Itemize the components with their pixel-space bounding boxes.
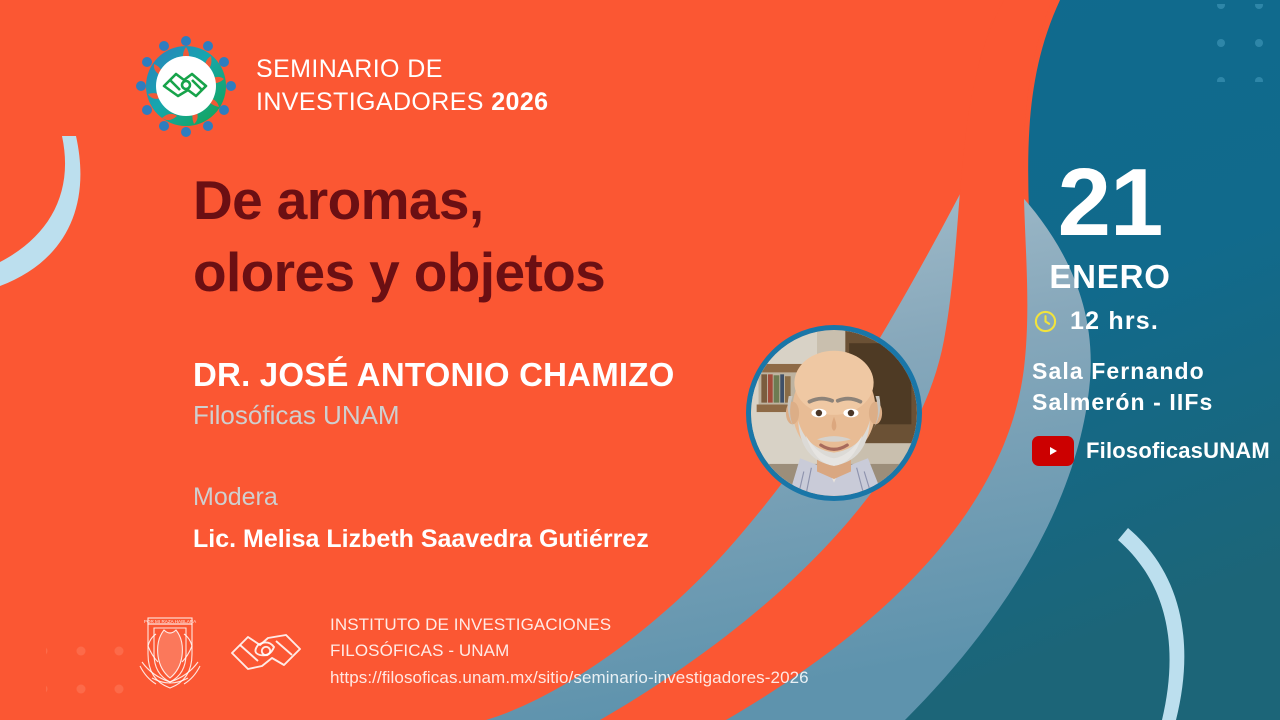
- brand-line-2-text: INVESTIGADORES: [256, 88, 484, 116]
- moderator-label: Modera: [193, 481, 649, 514]
- decor-dots-bottom-left: [46, 640, 124, 720]
- speaker-portrait-image: [751, 330, 917, 496]
- event-venue-line-1: Sala Fernando: [1032, 356, 1270, 386]
- decor-dots-top-right: [1206, 4, 1280, 82]
- speaker-block: DR. JOSÉ ANTONIO CHAMIZO Filosóficas UNA…: [193, 355, 675, 433]
- footer-block: POR MI RAZA HABLARA INSTITUTO DE INVESTI…: [134, 612, 809, 691]
- svg-text:POR MI RAZA HABLARA: POR MI RAZA HABLARA: [144, 619, 197, 624]
- footer-line-2: FILOSÓFICAS - UNAM: [330, 638, 809, 664]
- speaker-name: DR. JOSÉ ANTONIO CHAMIZO: [193, 355, 675, 395]
- brand-line-1: SEMINARIO DE: [256, 53, 548, 86]
- footer-url[interactable]: https://filosoficas.unam.mx/sitio/semina…: [330, 665, 809, 691]
- play-triangle-icon: [1044, 444, 1062, 458]
- footer-institution: INSTITUTO DE INVESTIGACIONES FILOSÓFICAS…: [330, 612, 809, 691]
- iif-handshake-logo-icon: [228, 621, 304, 683]
- brand-year: 2026: [491, 88, 548, 116]
- event-time: 12 hrs.: [1070, 307, 1159, 336]
- event-poster: SEMINARIO DE INVESTIGADORES 2026 De arom…: [0, 0, 1280, 720]
- youtube-play-icon[interactable]: [1032, 436, 1074, 466]
- youtube-channel-link[interactable]: FilosoficasUNAM: [1020, 436, 1270, 466]
- unam-shield-logo-icon: POR MI RAZA HABLARA: [134, 614, 206, 690]
- speaker-photo: [746, 325, 922, 501]
- event-title-line-2: olores y objetos: [193, 237, 813, 309]
- speaker-affiliation: Filosóficas UNAM: [193, 398, 675, 433]
- event-venue-line-2: Salmerón - IIFs: [1032, 387, 1270, 417]
- footer-line-1: INSTITUTO DE INVESTIGACIONES: [330, 612, 809, 638]
- clock-icon: [1034, 310, 1057, 333]
- moderator-name: Lic. Melisa Lizbeth Saavedra Gutiérrez: [193, 523, 649, 556]
- event-title-line-1: De aromas,: [193, 165, 813, 237]
- youtube-handle: FilosoficasUNAM: [1086, 438, 1270, 464]
- event-date-panel: 21 ENERO 12 hrs. Sala Fernando Salmerón …: [1020, 158, 1270, 466]
- moderator-block: Modera Lic. Melisa Lizbeth Saavedra Guti…: [193, 481, 649, 555]
- event-title: De aromas, olores y objetos: [193, 165, 813, 308]
- seminario-handshake-logo-icon: [134, 34, 238, 138]
- event-venue: Sala Fernando Salmerón - IIFs: [1020, 356, 1270, 417]
- brand-lockup: SEMINARIO DE INVESTIGADORES 2026: [134, 34, 548, 138]
- event-day: 21: [1020, 158, 1200, 247]
- event-time-row: 12 hrs.: [1020, 307, 1270, 336]
- brand-line-2: INVESTIGADORES 2026: [256, 86, 548, 119]
- event-month: ENERO: [1020, 258, 1200, 296]
- brand-title: SEMINARIO DE INVESTIGADORES 2026: [256, 53, 548, 120]
